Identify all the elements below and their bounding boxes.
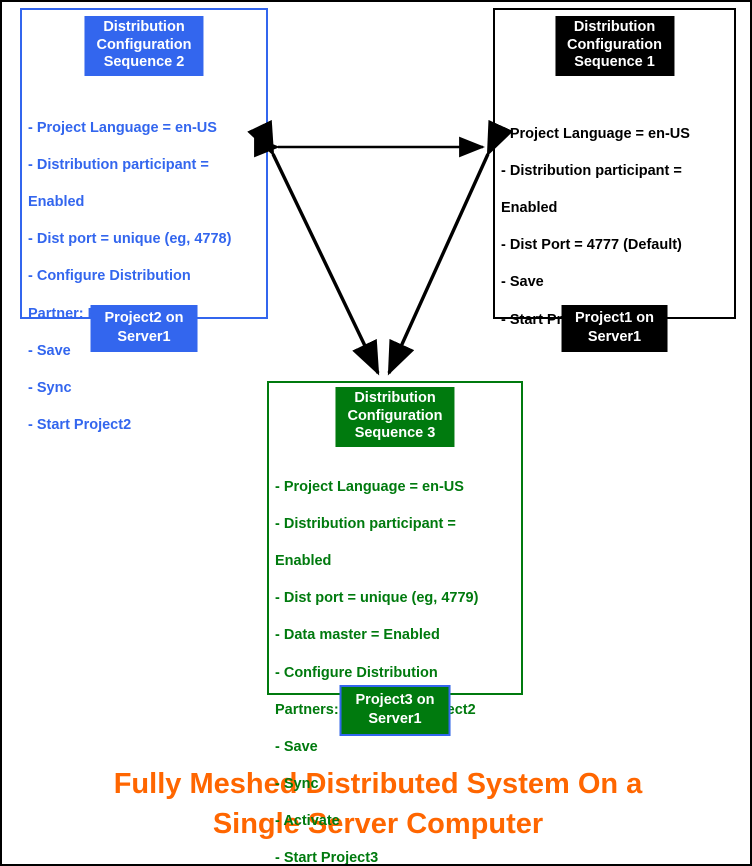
list-item: Enabled <box>275 552 478 571</box>
list-item: Enabled <box>501 199 690 218</box>
node-project3-config-list: - Project Language = en-US - Distributio… <box>275 459 478 866</box>
list-item: - Project Language = en-US <box>28 119 231 138</box>
list-item: - Save <box>275 738 478 757</box>
node-project2-footer-label: Project2 on Server1 <box>91 305 198 352</box>
node-project2-header: Distribution Configuration Sequence 2 <box>84 16 203 76</box>
node-project1-footer-label: Project1 on Server1 <box>561 305 668 352</box>
list-item: - Configure Distribution <box>28 267 231 286</box>
list-item: Enabled <box>28 193 231 212</box>
node-project3-header: Distribution Configuration Sequence 3 <box>335 387 454 447</box>
node-project1[interactable]: Distribution Configuration Sequence 1 - … <box>493 8 736 319</box>
list-item: - Configure Distribution <box>275 664 478 683</box>
node-project1-header: Distribution Configuration Sequence 1 <box>555 16 674 76</box>
list-item: - Dist port = unique (eg, 4779) <box>275 589 478 608</box>
list-item: - Data master = Enabled <box>275 626 478 645</box>
list-item: - Start Project3 <box>275 849 478 866</box>
arrow-project1-project3 <box>389 154 488 373</box>
node-project3[interactable]: Distribution Configuration Sequence 3 - … <box>267 381 523 695</box>
list-item: - Project Language = en-US <box>501 125 690 144</box>
list-item: - Dist port = unique (eg, 4778) <box>28 230 231 249</box>
arrow-project2-project3 <box>273 154 378 373</box>
list-item: - Activate <box>275 812 478 831</box>
list-item: - Start Project2 <box>28 416 231 435</box>
node-project2[interactable]: Distribution Configuration Sequence 2 - … <box>20 8 268 319</box>
list-item: - Project Language = en-US <box>275 478 478 497</box>
list-item: - Dist Port = 4777 (Default) <box>501 236 690 255</box>
list-item: - Save <box>501 273 690 292</box>
list-item: - Distribution participant = <box>28 156 231 175</box>
diagram-canvas: Distribution Configuration Sequence 2 - … <box>0 0 752 866</box>
node-project3-footer-label: Project3 on Server1 <box>340 685 451 736</box>
list-item: - Distribution participant = <box>275 515 478 534</box>
list-item: - Sync <box>28 379 231 398</box>
list-item: - Sync <box>275 775 478 794</box>
list-item: - Distribution participant = <box>501 162 690 181</box>
node-project2-config-list: - Project Language = en-US - Distributio… <box>28 100 231 453</box>
